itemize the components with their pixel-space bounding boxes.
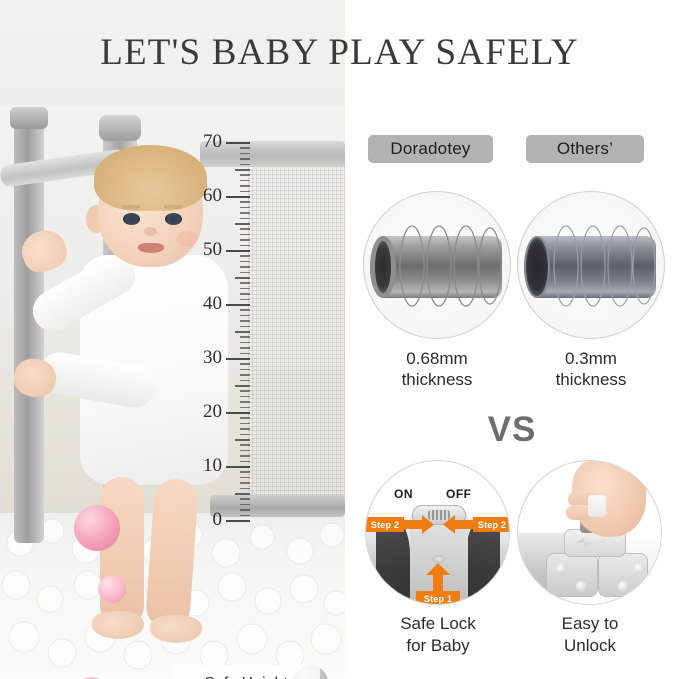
brand-badges: Doradotey Others’ bbox=[345, 135, 679, 165]
thumb-highlight bbox=[588, 495, 606, 517]
ruler-tick-minor bbox=[240, 461, 250, 463]
ruler-tick-minor bbox=[240, 218, 250, 220]
ruler-tick-minor bbox=[240, 498, 250, 500]
ruler-tick-minor bbox=[240, 347, 250, 349]
ruler-tick-minor bbox=[240, 450, 250, 452]
ruler-tick-minor bbox=[240, 234, 250, 236]
ruler-tick-minor bbox=[240, 266, 250, 268]
tube-thin-caption: 0.3mm thickness bbox=[516, 348, 666, 391]
step1-arrow-icon bbox=[426, 563, 450, 593]
tube-thick-illustration bbox=[363, 191, 511, 339]
step1-label: Step 1 bbox=[416, 591, 460, 605]
baby-right-leg bbox=[145, 478, 199, 631]
ruler-label-30: 30 bbox=[188, 347, 222, 369]
ruler-tick-minor bbox=[240, 191, 250, 193]
tube-thin-caption-line1: 0.3mm bbox=[516, 348, 666, 369]
ruler-tick-minor bbox=[240, 455, 250, 457]
coil-lines-thick bbox=[364, 192, 511, 339]
ruler-tick-minor bbox=[240, 417, 250, 419]
ruler-tick-major bbox=[226, 250, 250, 252]
height-ruler: 706050403020100 bbox=[200, 105, 260, 679]
tube-thick-caption-line2: thickness bbox=[362, 369, 512, 390]
ruler-tick-minor bbox=[240, 255, 250, 257]
playpen-mesh-panel bbox=[248, 165, 345, 495]
ruler-tick-minor bbox=[240, 509, 250, 511]
safe-lock-caption: Safe Lock for Baby bbox=[363, 613, 513, 657]
ruler-tick-major bbox=[226, 358, 250, 360]
ruler-tick-minor bbox=[240, 353, 250, 355]
unlock-rivet-2 bbox=[576, 581, 587, 592]
lock-on-label: ON bbox=[394, 487, 413, 501]
playpen-left-post-cap bbox=[10, 107, 48, 129]
ruler-tick-minor bbox=[235, 385, 250, 387]
ruler-tick-minor bbox=[240, 326, 250, 328]
ruler-tick-minor bbox=[240, 174, 250, 176]
ruler-tick-minor bbox=[240, 407, 250, 409]
badge-others: Others’ bbox=[526, 135, 644, 163]
infographic-page: LET'S BABY PLAY SAFELY bbox=[0, 0, 679, 679]
tube-thin-illustration bbox=[517, 191, 665, 339]
baby-mouth bbox=[138, 243, 164, 253]
ruler-label-70: 70 bbox=[188, 131, 222, 153]
ruler-tick-major bbox=[226, 412, 250, 414]
ruler-label-20: 20 bbox=[188, 401, 222, 423]
baby-right-eye bbox=[165, 213, 182, 225]
ruler-tick-minor bbox=[240, 147, 250, 149]
step2-right-label: Step 2 bbox=[473, 517, 510, 532]
ruler-tick-minor bbox=[240, 207, 250, 209]
safe-lock-illustration: ON OFF Step 2 Step 2 Step 1 bbox=[365, 460, 510, 605]
tube-thick-caption: 0.68mm thickness bbox=[362, 348, 512, 391]
ruler-tick-minor bbox=[240, 396, 250, 398]
baby-left-eye bbox=[123, 213, 140, 225]
safe-lock-caption-line1: Safe Lock bbox=[363, 613, 513, 635]
ruler-tick-minor bbox=[240, 212, 250, 214]
easy-unlock-caption-line2: Unlock bbox=[515, 635, 665, 657]
comparison-panel: Doradotey Others’ bbox=[345, 105, 679, 679]
ruler-tick-minor bbox=[240, 515, 250, 517]
title-bar: LET'S BABY PLAY SAFELY bbox=[0, 0, 679, 105]
easy-unlock-illustration bbox=[517, 460, 662, 605]
ball-pink-5 bbox=[98, 575, 126, 603]
ruler-label-10: 10 bbox=[188, 455, 222, 477]
ruler-tick-minor bbox=[240, 315, 250, 317]
ruler-label-40: 40 bbox=[188, 293, 222, 315]
unlock-plate-left bbox=[546, 553, 598, 597]
ruler-tick-minor bbox=[240, 272, 250, 274]
ruler-tick-minor bbox=[240, 228, 250, 230]
page-title: LET'S BABY PLAY SAFELY bbox=[0, 0, 679, 105]
ruler-tick-minor bbox=[240, 401, 250, 403]
baby-left-foot bbox=[92, 611, 144, 639]
ruler-tick-major bbox=[226, 196, 250, 198]
ruler-tick-minor bbox=[240, 336, 250, 338]
ruler-tick-minor bbox=[240, 444, 250, 446]
ruler-label-50: 50 bbox=[188, 239, 222, 261]
vs-label: VS bbox=[345, 410, 679, 450]
unlock-rivet-1 bbox=[556, 563, 567, 574]
ruler-tick-minor bbox=[235, 277, 250, 279]
step2-left-label: Step 2 bbox=[366, 517, 404, 532]
ruler-tick-minor bbox=[240, 158, 250, 160]
ruler-tick-minor bbox=[240, 488, 250, 490]
ruler-tick-minor bbox=[235, 439, 250, 441]
ruler-tick-minor bbox=[240, 504, 250, 506]
baby-left-eyebrow bbox=[122, 205, 140, 209]
lock-screw bbox=[432, 555, 446, 563]
baby-nose bbox=[144, 227, 157, 236]
ruler-tick-minor bbox=[240, 239, 250, 241]
ruler-tick-minor bbox=[240, 477, 250, 479]
ruler-tick-minor bbox=[240, 282, 250, 284]
badge-doradotey: Doradotey bbox=[368, 135, 493, 163]
unlock-rivet-4 bbox=[634, 563, 645, 574]
easy-unlock-caption-line1: Easy to bbox=[515, 613, 665, 635]
tube-thin-caption-line2: thickness bbox=[516, 369, 666, 390]
ruler-tick-minor bbox=[240, 185, 250, 187]
baby-right-eyebrow bbox=[164, 205, 182, 209]
ruler-tick-minor bbox=[240, 434, 250, 436]
lock-off-label: OFF bbox=[446, 487, 472, 501]
step2-right-arrow-icon bbox=[443, 515, 473, 534]
ruler-tick-minor bbox=[235, 493, 250, 495]
ruler-tick-minor bbox=[240, 369, 250, 371]
unlock-rivet-3 bbox=[618, 581, 629, 592]
ruler-tick-minor bbox=[240, 245, 250, 247]
ruler-tick-minor bbox=[240, 153, 250, 155]
ruler-tick-minor bbox=[240, 342, 250, 344]
ruler-tick-major bbox=[226, 304, 250, 306]
safe-height-label: Safe Height bbox=[204, 674, 288, 679]
baby-in-playpen-photo: 706050403020100 Safe Height 26.77in/68cm bbox=[0, 105, 345, 679]
ruler-tick-minor bbox=[235, 331, 250, 333]
ruler-tick-minor bbox=[240, 380, 250, 382]
ball-pink-1 bbox=[74, 505, 120, 551]
step2-left-arrow-icon bbox=[404, 515, 434, 534]
easy-unlock-caption: Easy to Unlock bbox=[515, 613, 665, 657]
ruler-tick-minor bbox=[240, 180, 250, 182]
ruler-tick-minor bbox=[240, 482, 250, 484]
ruler-tick-minor bbox=[240, 164, 250, 166]
ruler-tick-minor bbox=[240, 288, 250, 290]
ruler-tick-major bbox=[226, 466, 250, 468]
ruler-tick-minor bbox=[240, 374, 250, 376]
ruler-tick-minor bbox=[240, 293, 250, 295]
ruler-tick-major bbox=[226, 520, 250, 522]
ruler-label-60: 60 bbox=[188, 185, 222, 207]
ruler-tick-minor bbox=[240, 299, 250, 301]
baby-right-foot bbox=[150, 615, 202, 643]
ruler-tick-minor bbox=[235, 169, 250, 171]
ruler-tick-minor bbox=[235, 223, 250, 225]
ruler-tick-minor bbox=[240, 320, 250, 322]
ruler-tick-major bbox=[226, 142, 250, 144]
ruler-tick-minor bbox=[240, 390, 250, 392]
ruler-tick-minor bbox=[240, 363, 250, 365]
ruler-tick-minor bbox=[240, 201, 250, 203]
ruler-label-0: 0 bbox=[188, 509, 222, 531]
coil-lines-thin bbox=[518, 192, 665, 339]
tube-thick-caption-line1: 0.68mm bbox=[362, 348, 512, 369]
ruler-tick-minor bbox=[240, 261, 250, 263]
ruler-tick-minor bbox=[240, 428, 250, 430]
baby-left-leg bbox=[100, 477, 144, 627]
ruler-tick-minor bbox=[240, 423, 250, 425]
ruler-tick-minor bbox=[240, 471, 250, 473]
safe-height-callout: Safe Height 26.77in/68cm bbox=[172, 665, 320, 679]
ruler-tick-minor bbox=[240, 309, 250, 311]
safe-lock-caption-line2: for Baby bbox=[363, 635, 513, 657]
